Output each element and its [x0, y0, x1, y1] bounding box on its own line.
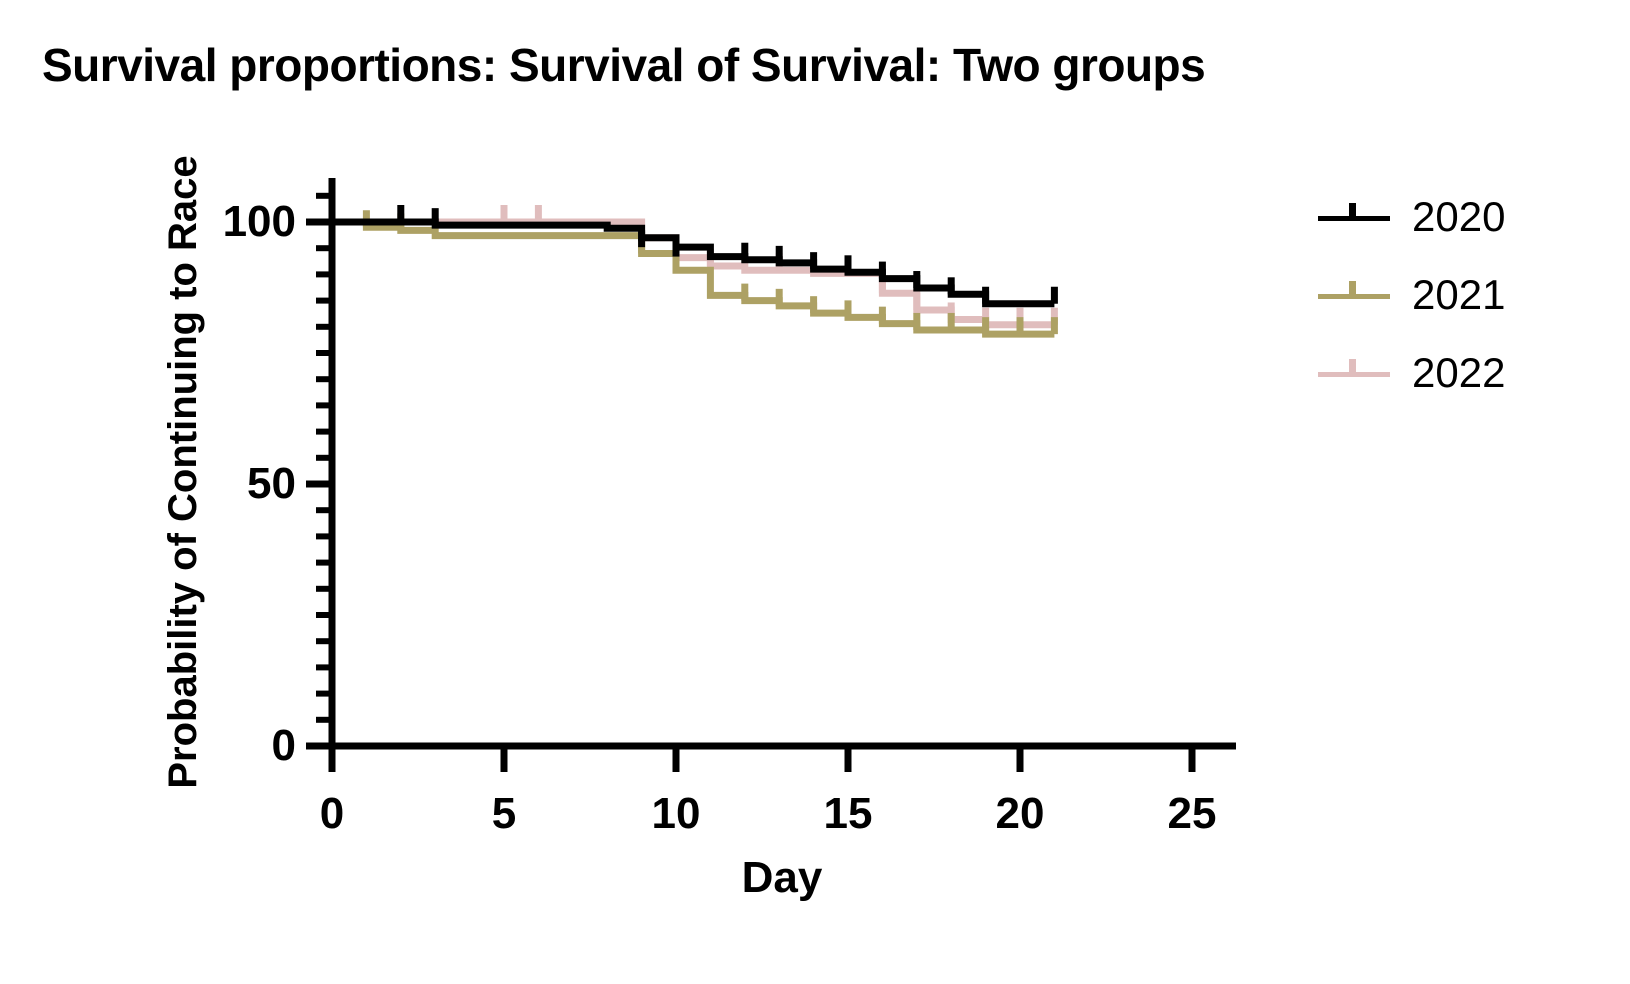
y-axis-tick-label: 0	[272, 721, 296, 770]
legend-item-2020[interactable]: 2020	[1318, 178, 1598, 256]
legend-swatch-2021	[1318, 275, 1390, 315]
legend-swatch-2022	[1318, 353, 1390, 393]
y-axis-tick-label: 100	[223, 197, 296, 246]
legend-swatch-2020	[1318, 197, 1390, 237]
x-axis-title: Day	[742, 853, 823, 902]
x-axis-tick-label: 20	[996, 789, 1045, 838]
legend-item-2022[interactable]: 2022	[1318, 334, 1598, 412]
y-axis-tick-label: 50	[247, 459, 296, 508]
x-axis-tick-label: 10	[652, 789, 701, 838]
survival-plot: 0501000510152025DayProbability of Contin…	[0, 0, 1630, 984]
chart-legend: 2020 2021 2022	[1318, 178, 1598, 412]
survival-curve-2021	[332, 222, 1054, 334]
legend-label-2021: 2021	[1412, 274, 1505, 316]
chart-figure: Survival proportions: Survival of Surviv…	[0, 0, 1630, 984]
x-axis-tick-label: 25	[1168, 789, 1217, 838]
x-axis-tick-label: 0	[320, 789, 344, 838]
x-axis-tick-label: 5	[492, 789, 516, 838]
x-axis-tick-label: 15	[824, 789, 873, 838]
legend-item-2021[interactable]: 2021	[1318, 256, 1598, 334]
y-axis-title: Probability of Continuing to Race	[161, 155, 205, 788]
legend-label-2022: 2022	[1412, 352, 1505, 394]
series-2021	[332, 210, 1054, 334]
legend-label-2020: 2020	[1412, 196, 1505, 238]
